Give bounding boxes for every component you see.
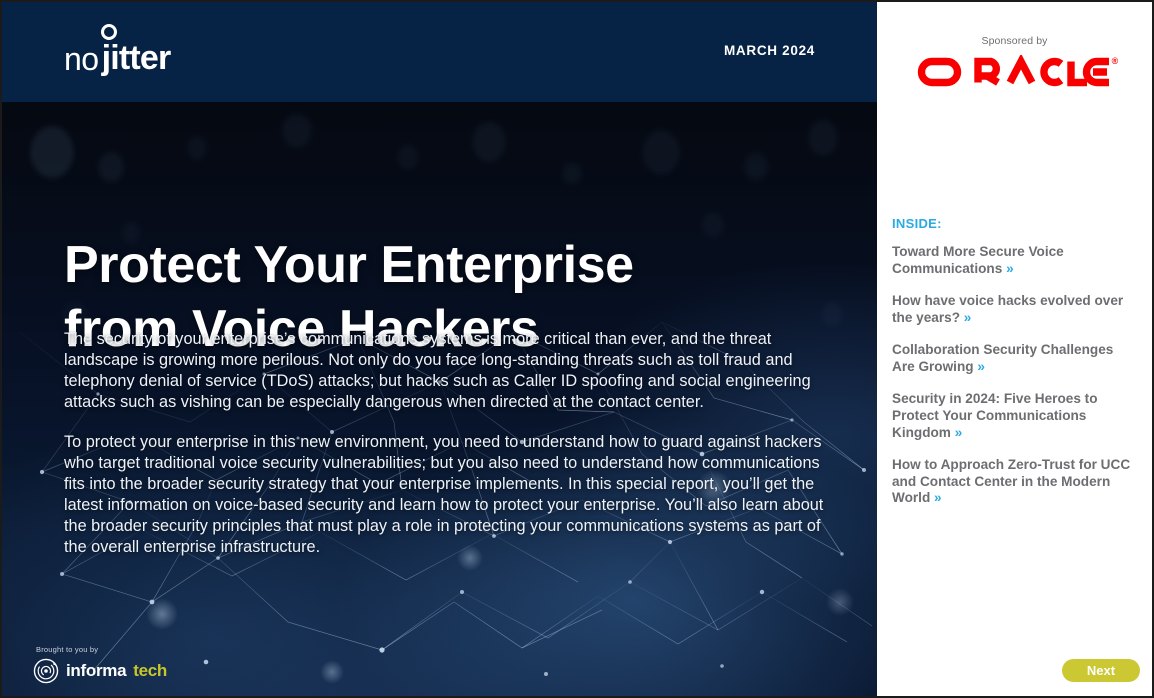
intro-paragraph-1: The security of your enterprise’s commun… bbox=[64, 329, 840, 412]
logo-ring-icon bbox=[101, 24, 117, 40]
oracle-wordmark bbox=[911, 55, 1111, 89]
inside-link-1-text: Toward More Secure Voice Communications bbox=[892, 244, 1064, 276]
registered-trademark-symbol: ® bbox=[1112, 57, 1119, 66]
site-header-bar: no jitter MARCH 2024 bbox=[2, 2, 877, 102]
sponsored-by-label: Sponsored by bbox=[877, 35, 1152, 47]
inside-link-5[interactable]: How to Approach Zero-Trust for UCC and C… bbox=[892, 457, 1137, 507]
logo-text-jitter: jitter bbox=[102, 39, 171, 77]
oracle-logo[interactable]: ® bbox=[911, 55, 1119, 89]
inside-link-3[interactable]: Collaboration Security Challenges Are Gr… bbox=[892, 342, 1137, 375]
inside-link-4-text: Security in 2024: Five Heroes to Protect… bbox=[892, 391, 1098, 439]
intro-paragraph-2: To protect your enterprise in this new e… bbox=[64, 432, 840, 557]
chevron-right-icon: » bbox=[964, 310, 972, 325]
chevron-right-icon: » bbox=[934, 490, 942, 505]
chevron-right-icon: » bbox=[955, 425, 963, 440]
issue-date: MARCH 2024 bbox=[724, 43, 815, 58]
inside-toc-block: INSIDE: Toward More Secure Voice Communi… bbox=[892, 216, 1137, 523]
logo-jitter-wrap: jitter bbox=[102, 41, 171, 75]
intro-body-copy: The security of your enterprise’s commun… bbox=[64, 329, 840, 558]
chevron-right-icon: » bbox=[1006, 261, 1014, 276]
headline-line-1: Protect Your Enterprise bbox=[64, 233, 824, 297]
informa-tech-logo[interactable]: informa tech bbox=[33, 658, 167, 684]
sidebar-panel: Sponsored by bbox=[877, 2, 1152, 696]
inside-link-2[interactable]: How have voice hacks evolved over the ye… bbox=[892, 293, 1137, 326]
informa-tech-wordmark: tech bbox=[133, 661, 167, 681]
inside-link-4[interactable]: Security in 2024: Five Heroes to Protect… bbox=[892, 391, 1137, 441]
brought-to-you-by-label: Brought to you by bbox=[33, 645, 167, 654]
hero-panel: no jitter MARCH 2024 Protect Your Enterp… bbox=[2, 2, 877, 696]
informa-wordmark: informa bbox=[66, 661, 126, 681]
brought-to-you-by-block: Brought to you by informa tech bbox=[33, 645, 167, 684]
nojitter-logo[interactable]: no jitter bbox=[64, 29, 170, 75]
chevron-right-icon: » bbox=[977, 359, 985, 374]
inside-link-3-text: Collaboration Security Challenges Are Gr… bbox=[892, 342, 1113, 374]
next-button[interactable]: Next bbox=[1062, 659, 1140, 682]
sponsor-block: Sponsored by bbox=[877, 2, 1152, 94]
inside-heading: INSIDE: bbox=[892, 216, 1137, 231]
informa-spiral-icon bbox=[33, 658, 59, 684]
logo-text-no: no bbox=[64, 43, 99, 75]
inside-link-5-text: How to Approach Zero-Trust for UCC and C… bbox=[892, 457, 1130, 505]
special-report-cover: no jitter MARCH 2024 Protect Your Enterp… bbox=[0, 0, 1154, 698]
inside-link-2-text: How have voice hacks evolved over the ye… bbox=[892, 293, 1123, 325]
inside-link-1[interactable]: Toward More Secure Voice Communications … bbox=[892, 244, 1137, 277]
